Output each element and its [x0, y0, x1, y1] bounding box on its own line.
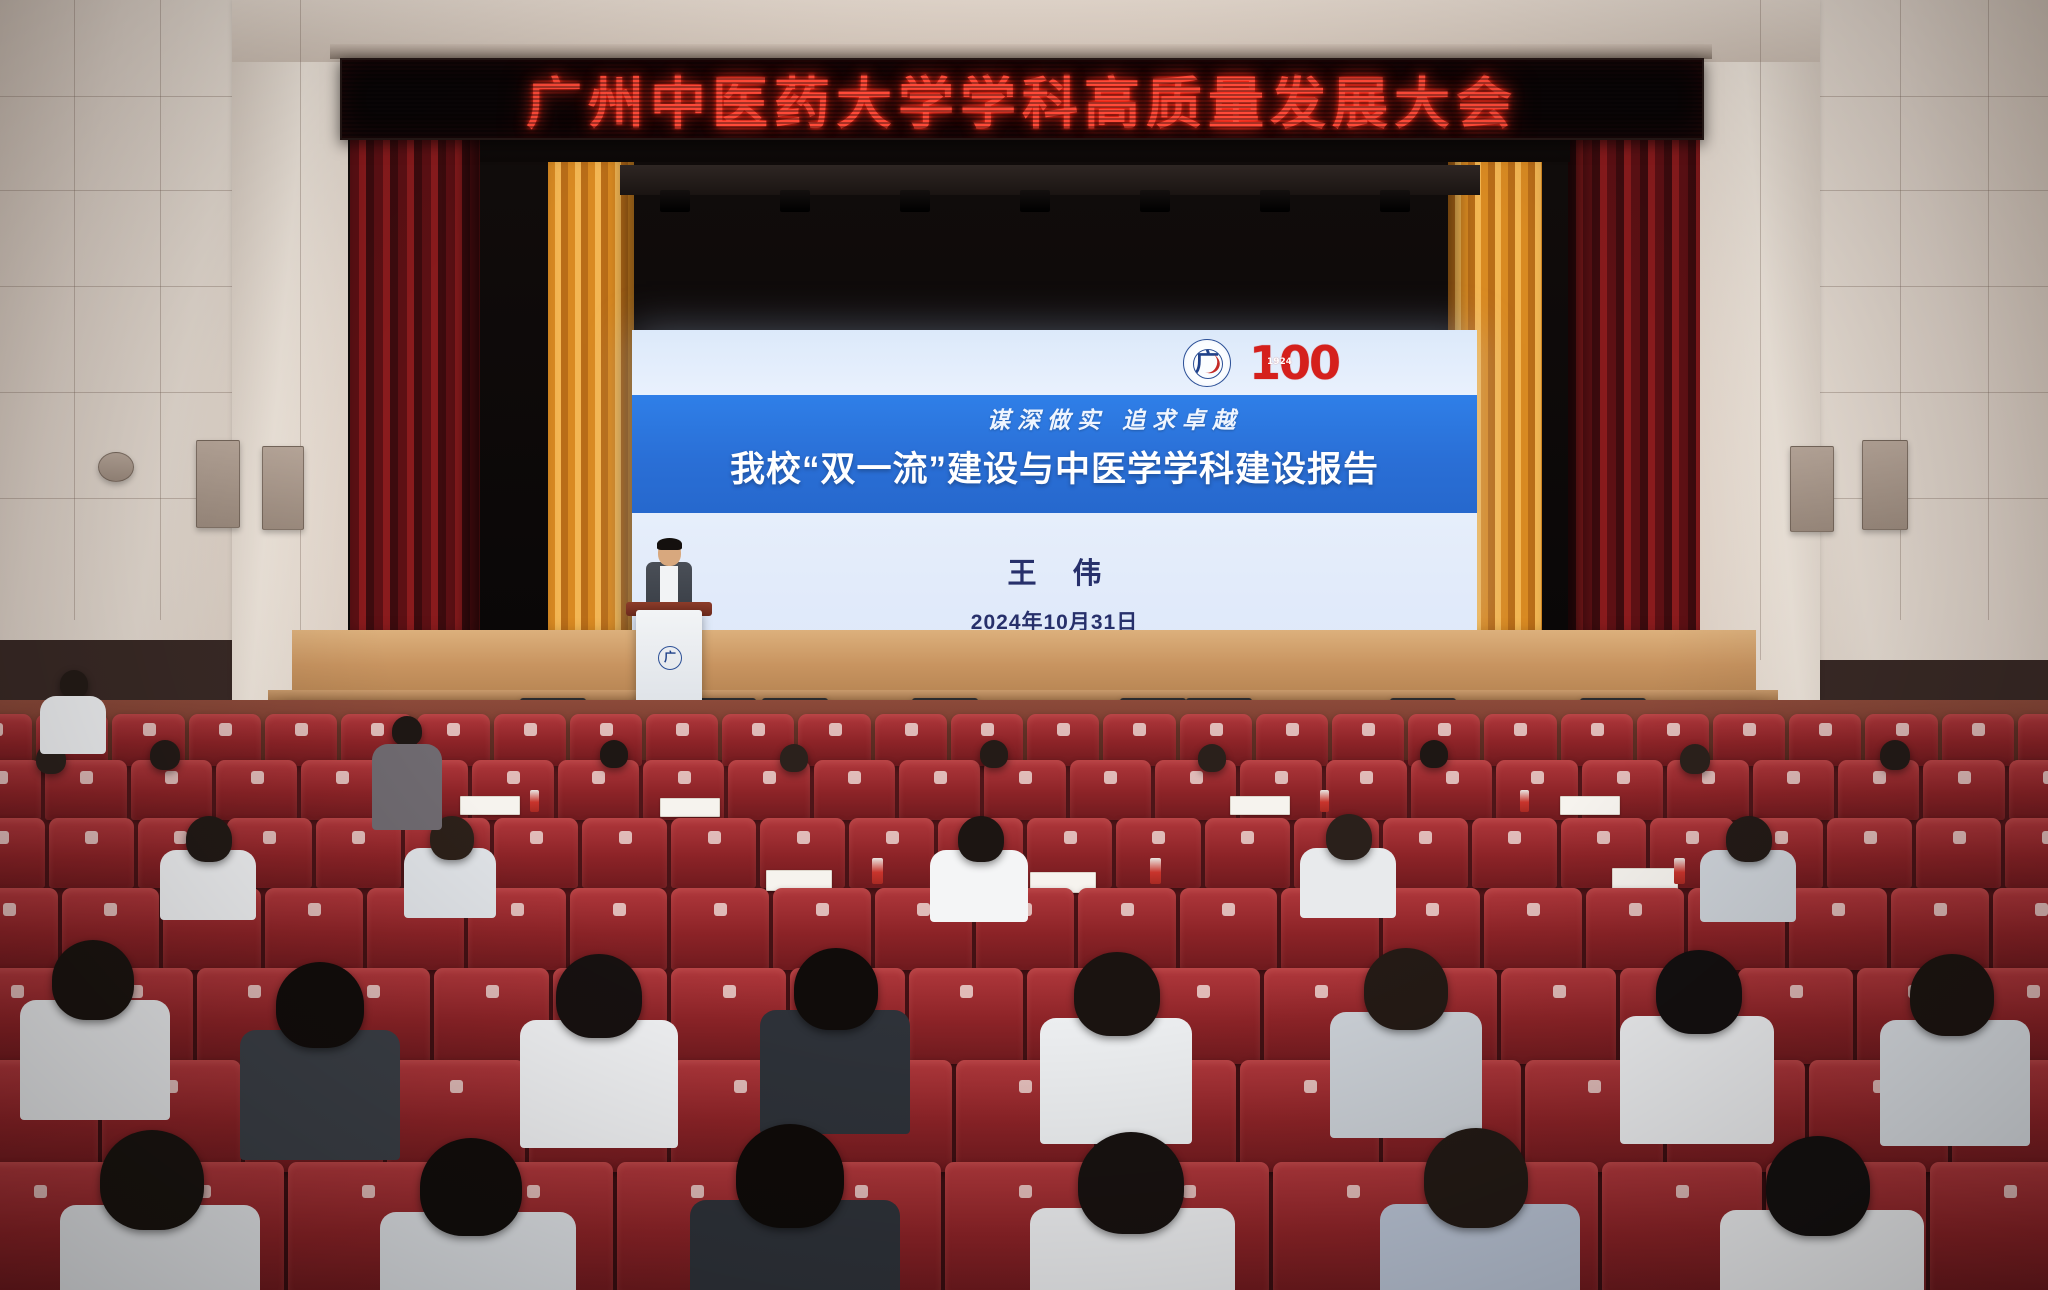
- slide-motto: 谋深做实 追求卓越: [632, 401, 1477, 435]
- attendee-head: [1680, 744, 1710, 774]
- presenter-hair: [657, 538, 682, 550]
- name-placard: [1612, 868, 1678, 889]
- attendee-head: [1364, 948, 1448, 1030]
- seat: [1103, 714, 1175, 766]
- seat: [494, 818, 579, 888]
- wall-seam: [1988, 0, 1989, 620]
- seat: [1789, 714, 1861, 766]
- seat: [0, 714, 32, 766]
- proscenium-left: [232, 0, 348, 700]
- slide-title-band: 谋深做实 追求卓越 我校“双一流”建设与中医学学科建设报告: [632, 395, 1477, 513]
- attendee-head: [1326, 814, 1372, 860]
- wall-light-fixture: [98, 452, 134, 482]
- seat: [301, 760, 382, 820]
- seat: [1789, 888, 1887, 970]
- attendee-torso: [520, 1020, 678, 1148]
- seat-row: [0, 760, 2048, 820]
- attendee-head: [150, 740, 180, 770]
- water-bottle: [1320, 790, 1329, 812]
- seat: [1713, 714, 1785, 766]
- water-bottle: [530, 790, 539, 812]
- name-placard: [1230, 796, 1290, 815]
- wall-seam: [160, 0, 161, 620]
- university-seal-icon: 广: [1183, 339, 1231, 387]
- photographer-torso: [372, 744, 442, 830]
- seat: [1332, 714, 1404, 766]
- seat: [909, 968, 1024, 1064]
- seat: [798, 714, 870, 766]
- seat-row: [0, 714, 2048, 766]
- seat: [1838, 760, 1919, 820]
- seat: [899, 760, 980, 820]
- seat: [2005, 818, 2048, 888]
- seat: [849, 818, 934, 888]
- attendee-torso: [1330, 1012, 1482, 1138]
- wall-speaker-box: [262, 446, 304, 530]
- pros-seam: [300, 0, 301, 660]
- seat: [1561, 714, 1633, 766]
- attendee-torso: [1620, 1016, 1774, 1144]
- led-banner-text: 广州中医药大学学科高质量发展大会: [526, 59, 1518, 140]
- seat: [875, 714, 947, 766]
- attendee-head: [958, 816, 1004, 862]
- attendee-torso: [1880, 1020, 2030, 1146]
- seat: [1326, 760, 1407, 820]
- attendee-head: [420, 1138, 522, 1236]
- seat: [1472, 818, 1557, 888]
- attendee-head: [186, 816, 232, 862]
- seat: [646, 714, 718, 766]
- seat: [0, 818, 45, 888]
- seat: [1916, 818, 2001, 888]
- seat: [1484, 714, 1556, 766]
- attendee-head: [794, 948, 878, 1030]
- auditorium-photo: 广州中医药大学学科高质量发展大会 广 100 1924 谋深做实 追求卓越 我校…: [0, 0, 2048, 1290]
- attendee-head: [1910, 954, 1994, 1036]
- attendee-head: [980, 740, 1008, 768]
- university-seal-glyph: 广: [1184, 342, 1230, 377]
- attendee-head: [100, 1130, 204, 1230]
- seat: [671, 888, 769, 970]
- lectern-seal-icon: 广: [658, 646, 682, 670]
- name-placard: [660, 798, 720, 817]
- attendee-head: [1880, 740, 1910, 770]
- seat: [1667, 760, 1748, 820]
- standing-person-torso: [40, 696, 106, 754]
- curtain-red-left: [350, 62, 480, 642]
- anniversary-year: 1924: [1267, 358, 1292, 367]
- seat: [2018, 714, 2048, 766]
- anniversary-emblem: 100 1924: [1249, 340, 1339, 386]
- stage-lamp: [1020, 190, 1050, 212]
- slide-header: 广 100 1924: [632, 330, 1477, 395]
- seat: [1155, 760, 1236, 820]
- attendee-head: [1420, 740, 1448, 768]
- attendee-head: [1074, 952, 1160, 1036]
- water-bottle: [1674, 858, 1685, 884]
- seat: [1205, 818, 1290, 888]
- photographer-head: [392, 716, 422, 746]
- stage-lamp: [1380, 190, 1410, 212]
- seat: [1501, 968, 1616, 1064]
- curtain-gold-left: [548, 150, 634, 638]
- water-bottle: [872, 858, 883, 884]
- attendee-head: [556, 954, 642, 1038]
- wall-speaker-box: [1862, 440, 1908, 530]
- seat: [984, 760, 1065, 820]
- seal-accent-icon: [1194, 349, 1223, 376]
- stage-lamp: [660, 190, 690, 212]
- seat: [2009, 760, 2048, 820]
- stage-lamp: [1140, 190, 1170, 212]
- seat: [582, 818, 667, 888]
- water-bottle: [1150, 858, 1161, 884]
- lighting-truss: [620, 165, 1480, 195]
- presenter-shirt: [660, 566, 678, 606]
- curtain-red-right: [1568, 62, 1700, 642]
- attendee-head: [1766, 1136, 1870, 1236]
- seat: [1180, 888, 1278, 970]
- stage-lamp: [900, 190, 930, 212]
- led-banner: 广州中医药大学学科高质量发展大会: [340, 58, 1704, 140]
- attendee-head: [1424, 1128, 1528, 1228]
- seat: [671, 818, 756, 888]
- attendee-head: [52, 940, 134, 1020]
- standing-person-head: [60, 670, 88, 698]
- seat: [1027, 714, 1099, 766]
- attendee-head: [736, 1124, 844, 1228]
- seat: [1923, 760, 2004, 820]
- seat: [0, 760, 41, 820]
- seat: [0, 888, 58, 970]
- slide-speaker-name: 王 伟: [993, 550, 1115, 592]
- name-placard: [1560, 796, 1620, 815]
- anniversary-number: 100: [1249, 336, 1339, 390]
- seat: [1411, 760, 1492, 820]
- attendee-head: [1198, 744, 1226, 772]
- stage-lamp: [780, 190, 810, 212]
- seat: [494, 714, 566, 766]
- attendee-torso: [1040, 1018, 1192, 1144]
- seat: [265, 888, 363, 970]
- seat: [1930, 1162, 2048, 1290]
- seat: [814, 760, 895, 820]
- wall-speaker-box: [1790, 446, 1834, 532]
- seat: [1586, 888, 1684, 970]
- name-placard: [460, 796, 520, 815]
- seat: [1942, 714, 2014, 766]
- attendee-head: [1078, 1132, 1184, 1234]
- seat: [1753, 760, 1834, 820]
- wall-speaker-box: [196, 440, 240, 528]
- lectern: 广: [636, 610, 702, 702]
- wall-seam: [74, 0, 75, 620]
- pros-seam: [1760, 0, 1761, 660]
- slide-title: 我校“双一流”建设与中医学学科建设报告: [632, 441, 1477, 492]
- stage-lamp: [1260, 190, 1290, 212]
- attendee-head: [1656, 950, 1742, 1034]
- slide-date: 2024年10月31日: [971, 606, 1138, 631]
- seat: [189, 714, 261, 766]
- seat: [1827, 818, 1912, 888]
- projection-screen: 广 100 1924 谋深做实 追求卓越 我校“双一流”建设与中医学学科建设报告…: [632, 330, 1477, 630]
- attendee-head: [276, 962, 364, 1048]
- seat: [216, 760, 297, 820]
- water-bottle: [1520, 790, 1529, 812]
- seat: [1070, 760, 1151, 820]
- seat: [265, 714, 337, 766]
- attendee-torso: [240, 1030, 400, 1160]
- seat: [49, 818, 134, 888]
- banner-mount-rail: [330, 44, 1712, 59]
- seat: [558, 760, 639, 820]
- attendee-head: [780, 744, 808, 772]
- slide-body: 王 伟 2024年10月31日: [632, 513, 1477, 630]
- attendee-head: [1726, 816, 1772, 862]
- audience-seating: [0, 700, 2048, 1290]
- seat: [1256, 714, 1328, 766]
- seat: [1484, 888, 1582, 970]
- attendee-head: [600, 740, 628, 768]
- seat: [1993, 888, 2048, 970]
